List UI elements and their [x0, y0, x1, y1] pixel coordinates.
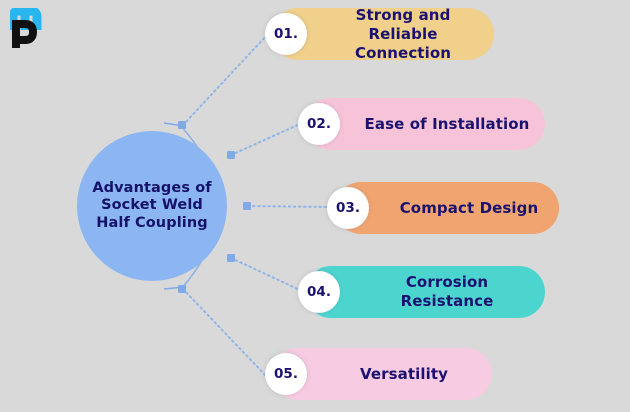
item-pill-2[interactable]: Ease of Installation: [305, 98, 545, 150]
item-number-3: 03.: [327, 187, 369, 229]
leader-4: [231, 258, 300, 290]
arc-node-1: [178, 121, 186, 129]
item-label-2: Ease of Installation: [305, 115, 545, 134]
stub-top: [164, 123, 184, 126]
brand-logo: [10, 8, 56, 52]
arc-node-5: [178, 285, 186, 293]
central-hub: Advantages of Socket Weld Half Coupling: [77, 131, 227, 281]
stub-bottom: [164, 287, 184, 289]
item-number-4: 04.: [298, 271, 340, 313]
pm-monogram-icon: [10, 8, 56, 52]
item-label-4: Corrosion Resistance: [305, 273, 545, 311]
leader-2: [231, 124, 300, 155]
leader-3: [248, 206, 330, 207]
leader-1: [183, 34, 268, 125]
item-pill-4[interactable]: Corrosion Resistance: [305, 266, 545, 318]
infographic-canvas: Advantages of Socket Weld Half Coupling …: [0, 0, 630, 412]
item-number-1: 01.: [265, 13, 307, 55]
arc-node-4: [227, 254, 235, 262]
item-number-2: 02.: [298, 103, 340, 145]
arc-node-2: [227, 151, 235, 159]
hub-title: Advantages of Socket Weld Half Coupling: [87, 180, 217, 233]
leader-5: [183, 289, 268, 378]
arc-node-3: [243, 202, 251, 210]
item-number-5: 05.: [265, 353, 307, 395]
